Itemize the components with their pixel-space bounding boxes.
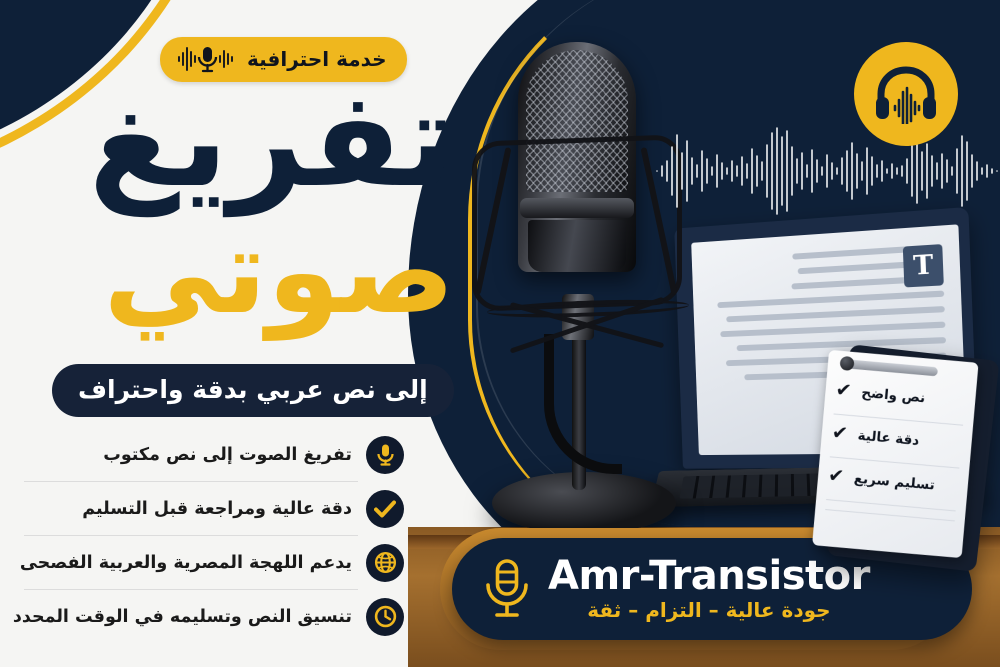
- clipboard: نص واضح ✔ دقة عالية ✔ تسليم سريع ✔: [826, 344, 999, 572]
- feature-item: تفريغ الصوت إلى نص مكتوب: [18, 428, 408, 481]
- paper-rule: [825, 509, 955, 521]
- brand-name: Amr-Transistor: [548, 556, 870, 597]
- checklist-item-label: نص واضح: [861, 384, 926, 406]
- clock-icon: [366, 598, 404, 636]
- page-title-line1: تفريغ: [89, 74, 455, 206]
- text-document-icon: T: [903, 244, 944, 287]
- headphones-badge: [854, 42, 958, 146]
- feature-item: دقة عالية ومراجعة قبل التسليم: [18, 482, 408, 535]
- brand-tagline: جودة عالية – التزام – ثقة: [587, 598, 830, 622]
- doc-line: [736, 337, 946, 351]
- microphone-icon: [482, 558, 532, 620]
- studio-microphone: [466, 42, 696, 542]
- feature-item: تنسيق النص وتسليمه في الوقت المحدد: [18, 590, 408, 643]
- checklist-item: نص واضح ✔: [835, 381, 966, 411]
- mic-cable: [544, 334, 622, 474]
- feature-list: تفريغ الصوت إلى نص مكتوب دقة عالية ومراج…: [18, 428, 408, 643]
- feature-label: تنسيق النص وتسليمه في الوقت المحدد: [13, 607, 352, 627]
- audio-waveform-graphic: [655, 125, 1000, 217]
- clipboard-clasp: [846, 359, 938, 376]
- microphone-icon: [366, 436, 404, 474]
- paper-rule: [834, 413, 964, 425]
- feature-item: يدعم اللهجة المصرية والعربية الفصحى: [18, 536, 408, 589]
- paper-rule: [830, 456, 960, 468]
- checklist-item-label: دقة عالية: [857, 427, 920, 448]
- paper-rule: [826, 499, 956, 511]
- check-icon: ✔: [827, 466, 845, 486]
- doc-line: [720, 322, 945, 338]
- subtitle-pill: إلى نص عربي بدقة واحتراف: [52, 364, 454, 417]
- feature-label: تفريغ الصوت إلى نص مكتوب: [103, 445, 352, 465]
- check-icon: ✔: [835, 381, 853, 401]
- page-title-line2: صوتي: [103, 212, 455, 330]
- checklist-item-label: تسليم سريع: [853, 470, 935, 493]
- checklist-item: دقة عالية ✔: [831, 423, 962, 453]
- check-icon: ✔: [831, 423, 849, 443]
- doc-line: [717, 291, 944, 309]
- feature-label: يدعم اللهجة المصرية والعربية الفصحى: [20, 553, 352, 573]
- poster-canvas: T: [0, 0, 1000, 667]
- subtitle-text: إلى نص عربي بدقة واحتراف: [78, 375, 428, 404]
- headphones-waveform-icon: [873, 64, 939, 124]
- globe-icon: [366, 544, 404, 582]
- clipboard-paper: نص واضح ✔ دقة عالية ✔ تسليم سريع ✔: [812, 350, 979, 558]
- checklist-item: تسليم سريع ✔: [827, 466, 958, 496]
- feature-label: دقة عالية ومراجعة قبل التسليم: [82, 499, 352, 519]
- doc-line: [726, 306, 944, 322]
- brand-text-group: Amr-Transistor جودة عالية – التزام – ثقة: [548, 556, 870, 623]
- check-icon: [366, 490, 404, 528]
